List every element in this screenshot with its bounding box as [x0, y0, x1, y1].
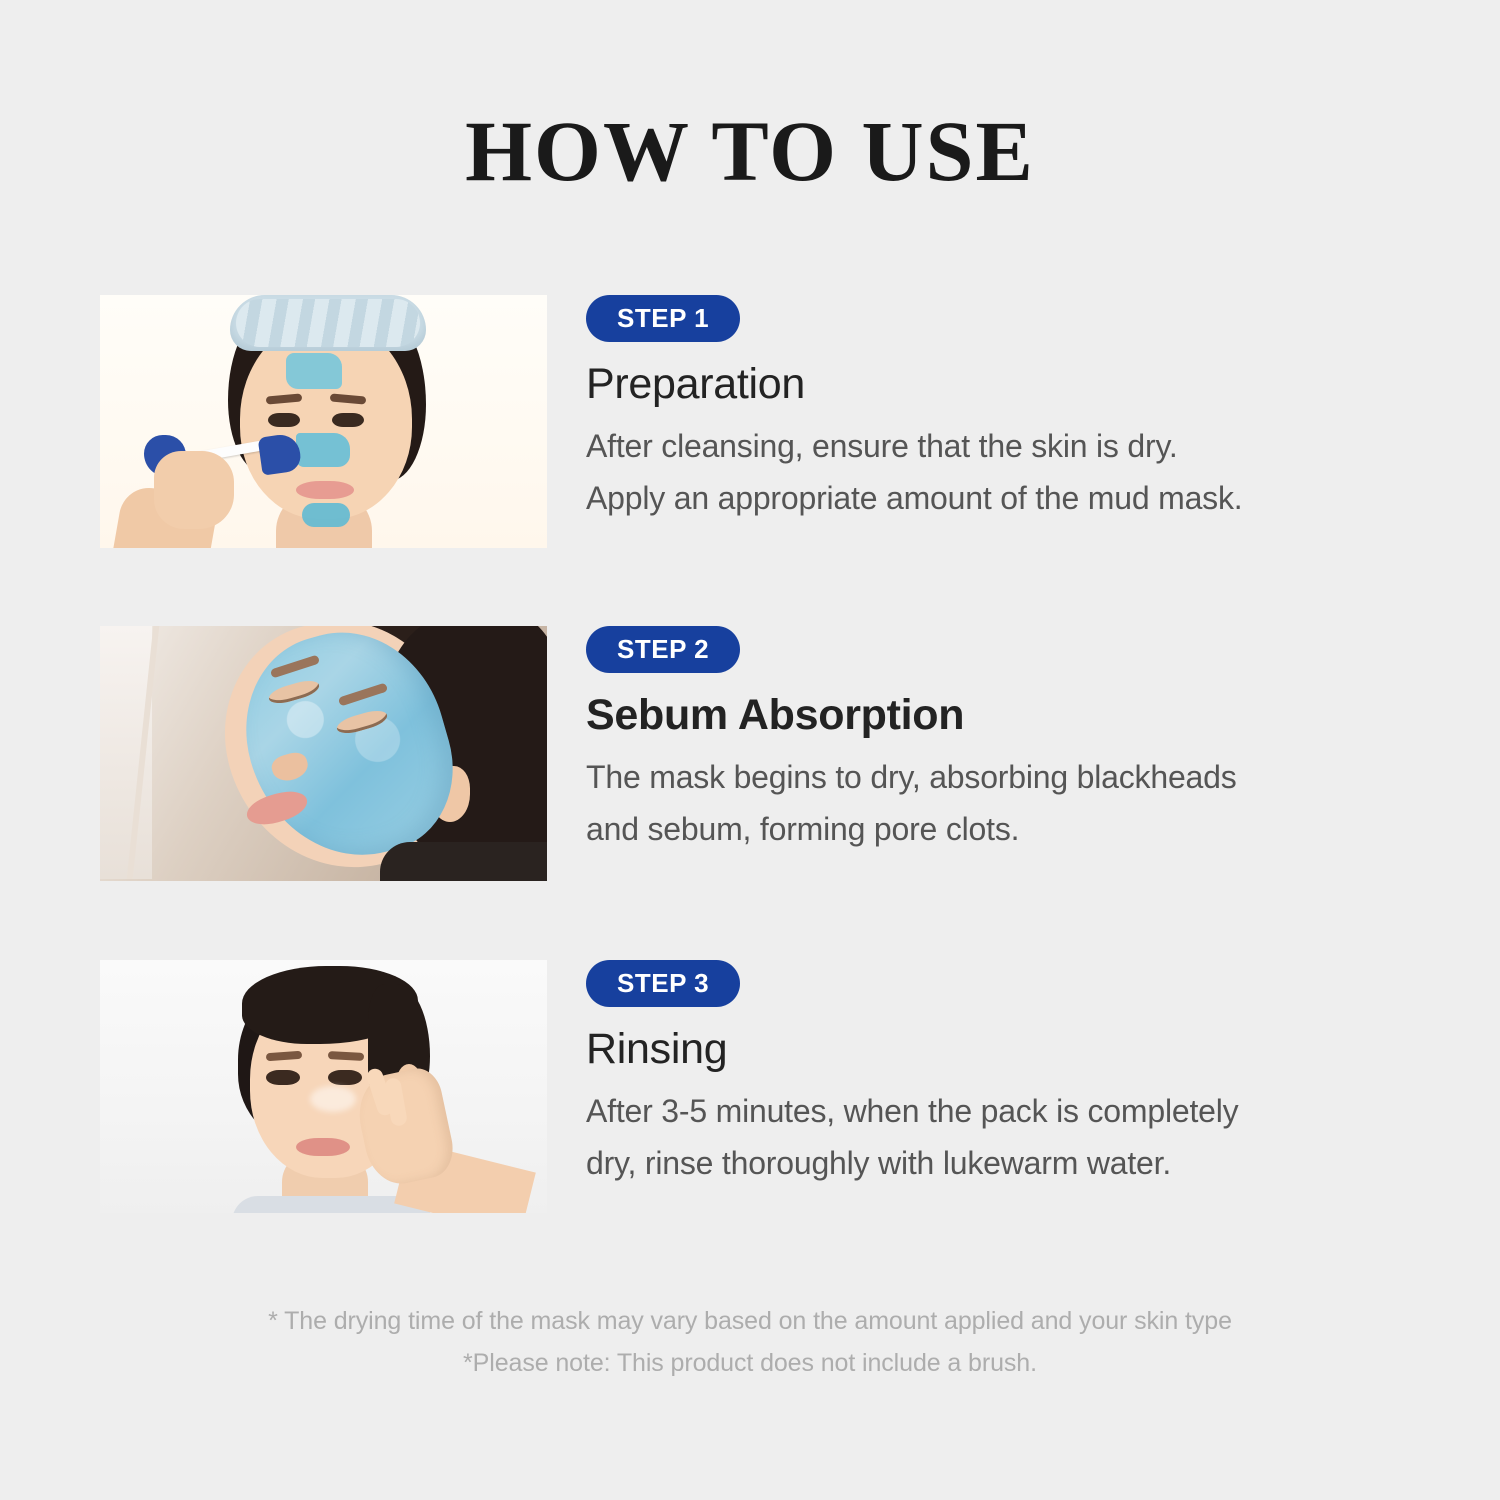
- footnote-no-brush: *Please note: This product does not incl…: [0, 1342, 1500, 1384]
- step-body-1: After cleansing, ensure that the skin is…: [586, 421, 1416, 525]
- photo-full-mask: [100, 626, 547, 881]
- step-image-rinsing: [100, 960, 547, 1213]
- step-body-line: The mask begins to dry, absorbing blackh…: [586, 752, 1416, 804]
- step-body-line: Apply an appropriate amount of the mud m…: [586, 473, 1416, 525]
- step-body-line: and sebum, forming pore clots.: [586, 804, 1416, 856]
- photo-applying-mask: [100, 295, 547, 548]
- footnote-drying-time: * The drying time of the mask may vary b…: [0, 1300, 1500, 1342]
- step-badge-3: STEP 3: [586, 960, 740, 1007]
- step-image-sebum-absorption: [100, 626, 547, 881]
- step-row: STEP 1 Preparation After cleansing, ensu…: [0, 295, 1500, 555]
- step-badge-1: STEP 1: [586, 295, 740, 342]
- step-heading-2: Sebum Absorption: [586, 692, 1416, 738]
- footnotes: * The drying time of the mask may vary b…: [0, 1300, 1500, 1384]
- step-badge-2: STEP 2: [586, 626, 740, 673]
- step-body-line: After cleansing, ensure that the skin is…: [586, 421, 1416, 473]
- page-title: HOW TO USE: [0, 108, 1500, 194]
- step-body-line: After 3-5 minutes, when the pack is comp…: [586, 1086, 1416, 1138]
- step-body-3: After 3-5 minutes, when the pack is comp…: [586, 1086, 1416, 1190]
- step-text-block: STEP 1 Preparation After cleansing, ensu…: [586, 295, 1416, 525]
- step-text-block: STEP 3 Rinsing After 3-5 minutes, when t…: [586, 960, 1416, 1190]
- step-heading-3: Rinsing: [586, 1026, 1416, 1072]
- step-body-2: The mask begins to dry, absorbing blackh…: [586, 752, 1416, 856]
- step-row: STEP 2 Sebum Absorption The mask begins …: [0, 626, 1500, 886]
- step-image-preparation: [100, 295, 547, 548]
- step-body-line: dry, rinse thoroughly with lukewarm wate…: [586, 1138, 1416, 1190]
- step-heading-1: Preparation: [586, 361, 1416, 407]
- step-row: STEP 3 Rinsing After 3-5 minutes, when t…: [0, 960, 1500, 1220]
- how-to-use-page: HOW TO USE: [0, 0, 1500, 1500]
- step-text-block: STEP 2 Sebum Absorption The mask begins …: [586, 626, 1416, 856]
- photo-clean-face: [100, 960, 547, 1213]
